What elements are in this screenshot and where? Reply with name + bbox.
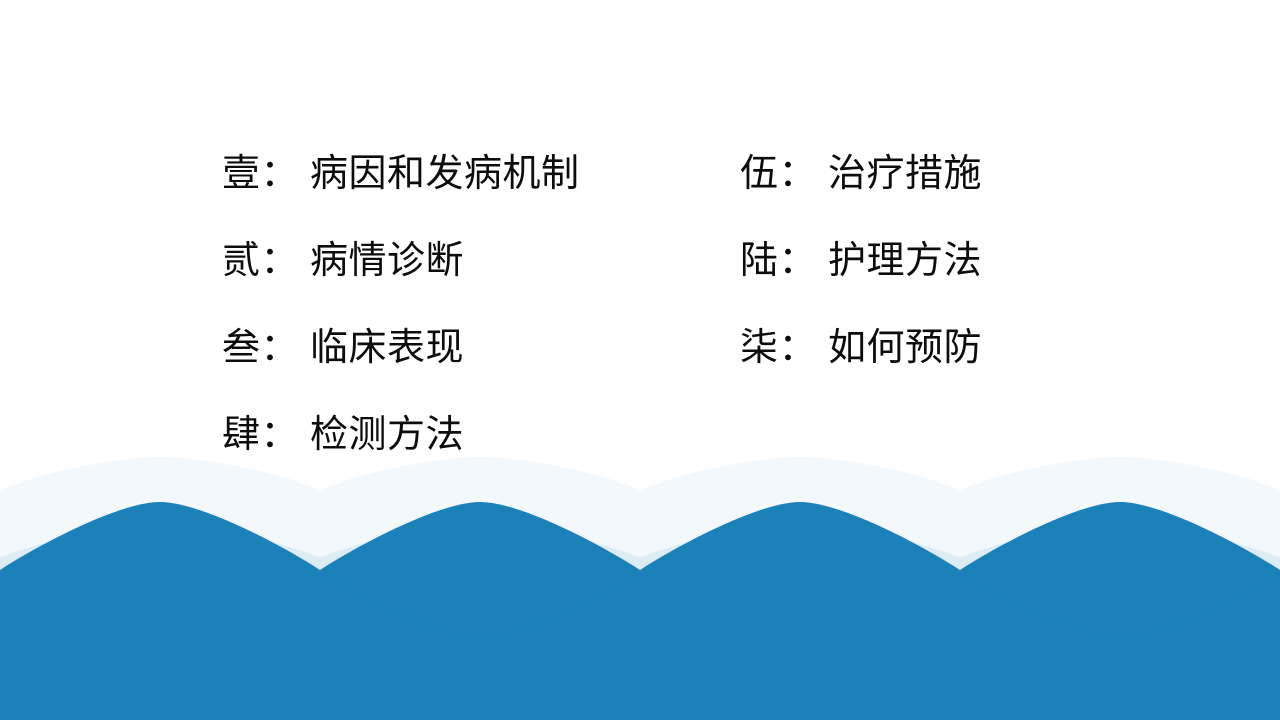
agenda-item-label: 壹： 病因和发病机制 bbox=[222, 155, 580, 193]
agenda-list: 壹： 病因和发病机制 贰： 病情诊断 叁： 临床表现 肆： 检测方法 伍： 治疗… bbox=[0, 0, 1280, 470]
agenda-item-label: 柒： 如何预防 bbox=[740, 329, 982, 367]
agenda-item-1[interactable]: 壹： 病因和发病机制 bbox=[222, 130, 580, 217]
agenda-column-right: 伍： 治疗措施 陆： 护理方法 柒： 如何预防 bbox=[740, 130, 982, 391]
agenda-item-7[interactable]: 柒： 如何预防 bbox=[740, 304, 982, 391]
agenda-item-label: 伍： 治疗措施 bbox=[740, 155, 982, 193]
slide-canvas: 壹： 病因和发病机制 贰： 病情诊断 叁： 临床表现 肆： 检测方法 伍： 治疗… bbox=[0, 0, 1280, 720]
agenda-item-label: 陆： 护理方法 bbox=[740, 242, 982, 280]
agenda-item-3[interactable]: 叁： 临床表现 bbox=[222, 304, 580, 391]
agenda-item-2[interactable]: 贰： 病情诊断 bbox=[222, 217, 580, 304]
wave-decoration bbox=[0, 450, 1280, 720]
agenda-item-6[interactable]: 陆： 护理方法 bbox=[740, 217, 982, 304]
agenda-item-5[interactable]: 伍： 治疗措施 bbox=[740, 130, 982, 217]
agenda-item-4[interactable]: 肆： 检测方法 bbox=[222, 391, 580, 478]
agenda-item-label: 肆： 检测方法 bbox=[222, 416, 464, 454]
agenda-column-left: 壹： 病因和发病机制 贰： 病情诊断 叁： 临床表现 肆： 检测方法 bbox=[222, 130, 580, 478]
wave-graphic bbox=[0, 450, 1280, 720]
agenda-item-label: 叁： 临床表现 bbox=[222, 329, 464, 367]
agenda-item-label: 贰： 病情诊断 bbox=[222, 242, 464, 280]
